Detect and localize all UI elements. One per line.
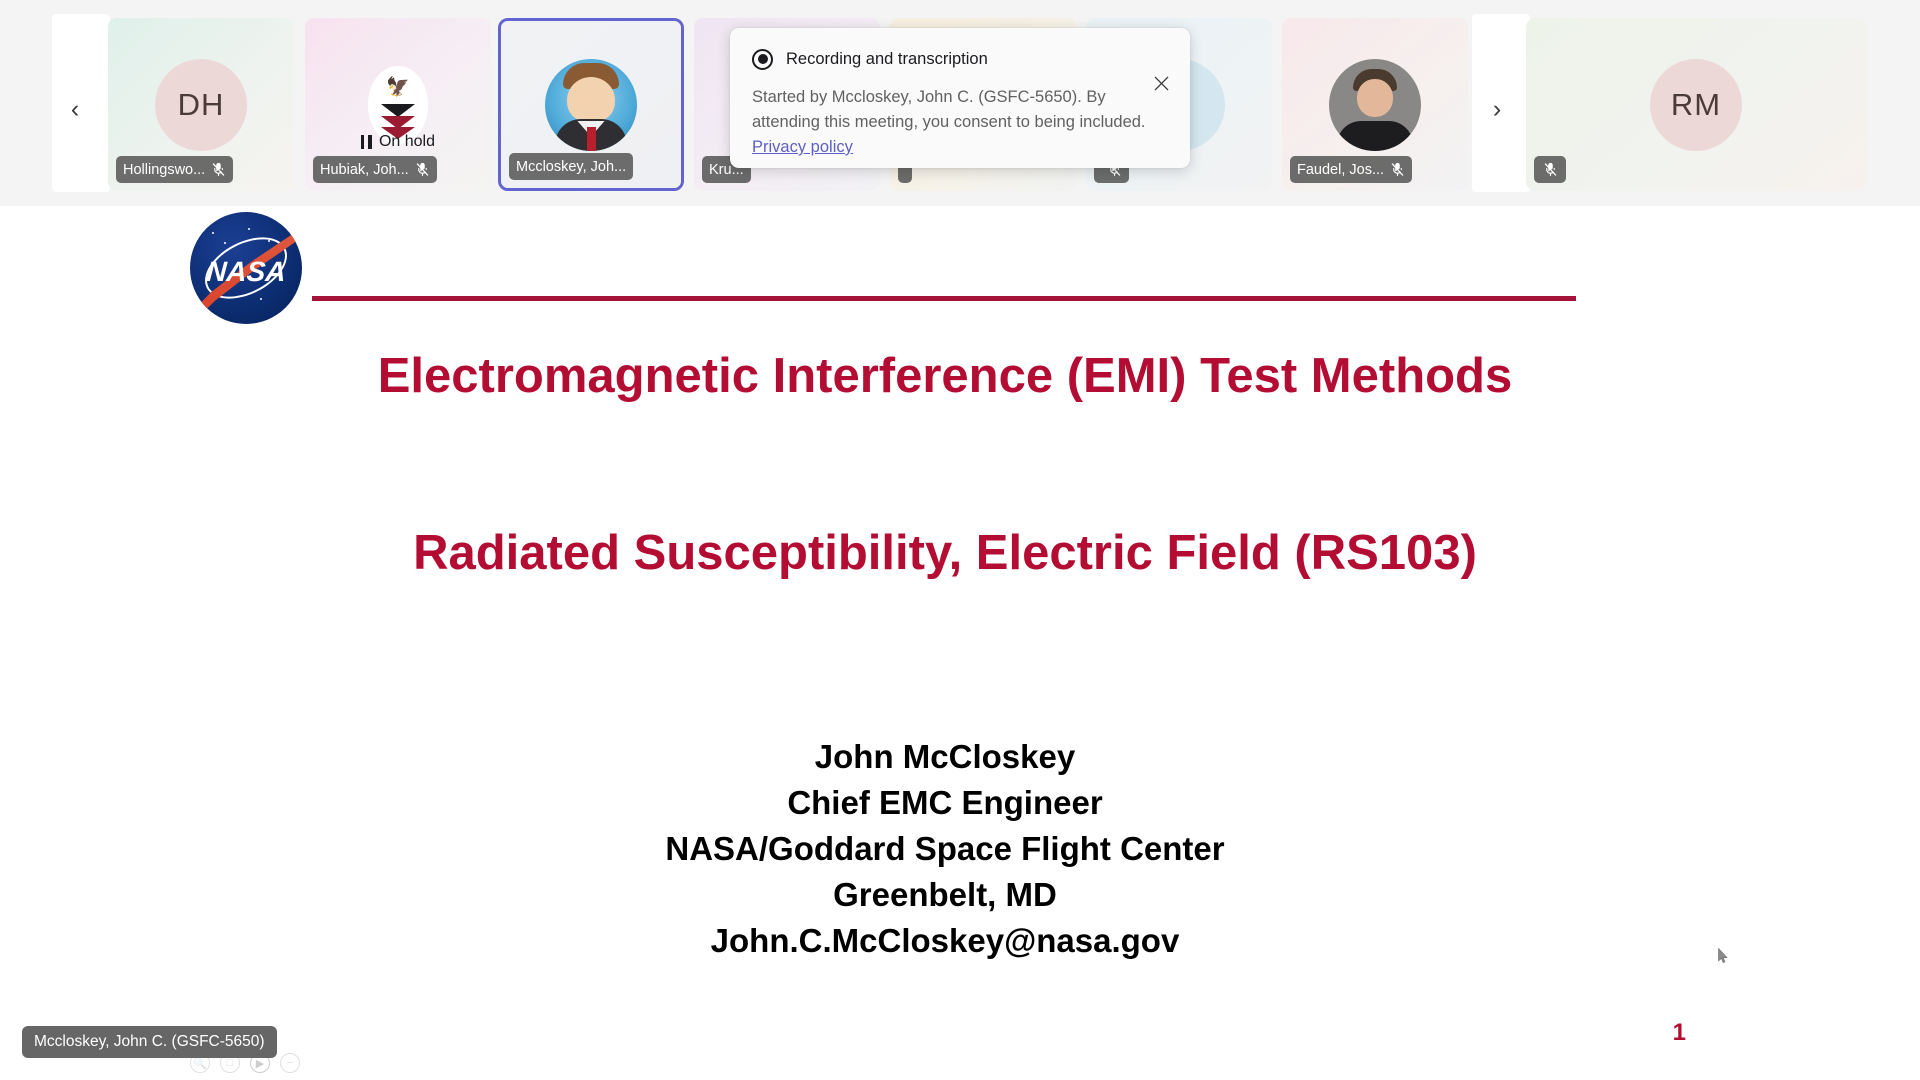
avatar-tie-shape	[587, 127, 596, 151]
slide-author-block: John McCloskey Chief EMC Engineer NASA/G…	[300, 734, 1590, 964]
presentation-slide[interactable]: NASA Electromagnetic Interference (EMI) …	[190, 206, 1732, 1063]
recording-popup-body: Started by Mccloskey, John C. (GSFC-5650…	[752, 85, 1168, 160]
slide-title: Electromagnetic Interference (EMI) Test …	[300, 342, 1590, 411]
filmstrip-next-icon[interactable]: ›	[1480, 92, 1514, 126]
slide-number: 1	[1673, 1019, 1686, 1047]
recording-popup-header: Recording and transcription	[752, 46, 1170, 72]
participant-tile-rm[interactable]: RM	[1526, 18, 1866, 191]
recording-popup-text: Started by Mccloskey, John C. (GSFC-5650…	[752, 88, 1146, 131]
close-icon[interactable]	[1148, 70, 1174, 96]
participant-mic-pill	[1534, 156, 1566, 183]
participant-name-pill: Hubiak, Joh...	[313, 156, 437, 183]
avatar-photo	[545, 59, 637, 151]
on-hold-status: On hold	[305, 133, 491, 151]
mic-muted-icon	[1543, 161, 1558, 178]
slide-right-margin	[1732, 206, 1920, 1080]
participant-tile-hubiak[interactable]: 🦅 On hold Hubiak, Joh...	[305, 18, 491, 191]
participant-tile-faudel[interactable]: Faudel, Jos...	[1282, 18, 1468, 191]
zoom-out-icon[interactable]: −	[280, 1053, 300, 1073]
participant-name: Hollingswo...	[123, 162, 205, 178]
record-dot-icon	[752, 49, 773, 70]
nasa-wordmark: NASA	[190, 256, 302, 288]
privacy-policy-link[interactable]: Privacy policy	[752, 138, 853, 156]
on-hold-label: On hold	[379, 133, 435, 151]
participant-name-pill: Hollingswo...	[116, 156, 233, 183]
slide-header-rule	[312, 296, 1576, 301]
shared-content-area: NASA Electromagnetic Interference (EMI) …	[0, 206, 1920, 1080]
avatar-photo	[1329, 59, 1421, 151]
participant-name: Hubiak, Joh...	[320, 162, 409, 178]
recording-notification-popup: Recording and transcription Started by M…	[730, 28, 1190, 168]
participant-tile-hollingsworth[interactable]: DH Hollingswo...	[108, 18, 294, 191]
participant-name-pill: Faudel, Jos...	[1290, 156, 1412, 183]
avatar-face-shape	[567, 77, 615, 123]
avatar-rank-insignia-icon: 🦅	[368, 66, 428, 144]
recording-popup-title: Recording and transcription	[786, 50, 988, 69]
mic-muted-icon	[1390, 161, 1405, 178]
filmstrip-prev-icon[interactable]: ‹	[58, 92, 92, 126]
eagle-glyph-icon: 🦅	[385, 78, 411, 98]
participant-name: Faudel, Jos...	[1297, 162, 1384, 178]
avatar-shirt-shape	[1337, 121, 1413, 151]
participant-tile-mccloskey[interactable]: Mccloskey, Joh...	[498, 18, 684, 191]
nasa-logo-icon: NASA	[190, 212, 302, 324]
pause-icon	[361, 135, 372, 149]
participant-name: Mccloskey, Joh...	[516, 159, 626, 175]
slide-subtitle: Radiated Susceptibility, Electric Field …	[300, 516, 1590, 591]
mic-muted-icon	[211, 161, 226, 178]
mouse-cursor-icon	[1718, 948, 1728, 963]
avatar-face-shape	[1357, 79, 1393, 117]
slide-left-margin	[0, 206, 190, 1080]
participant-name-pill: Mccloskey, Joh...	[509, 153, 633, 180]
mic-muted-icon	[415, 161, 430, 178]
avatar-initials: RM	[1650, 59, 1742, 151]
presenter-name-label: Mccloskey, John C. (GSFC-5650)	[22, 1026, 277, 1058]
avatar-initials: DH	[155, 59, 247, 151]
